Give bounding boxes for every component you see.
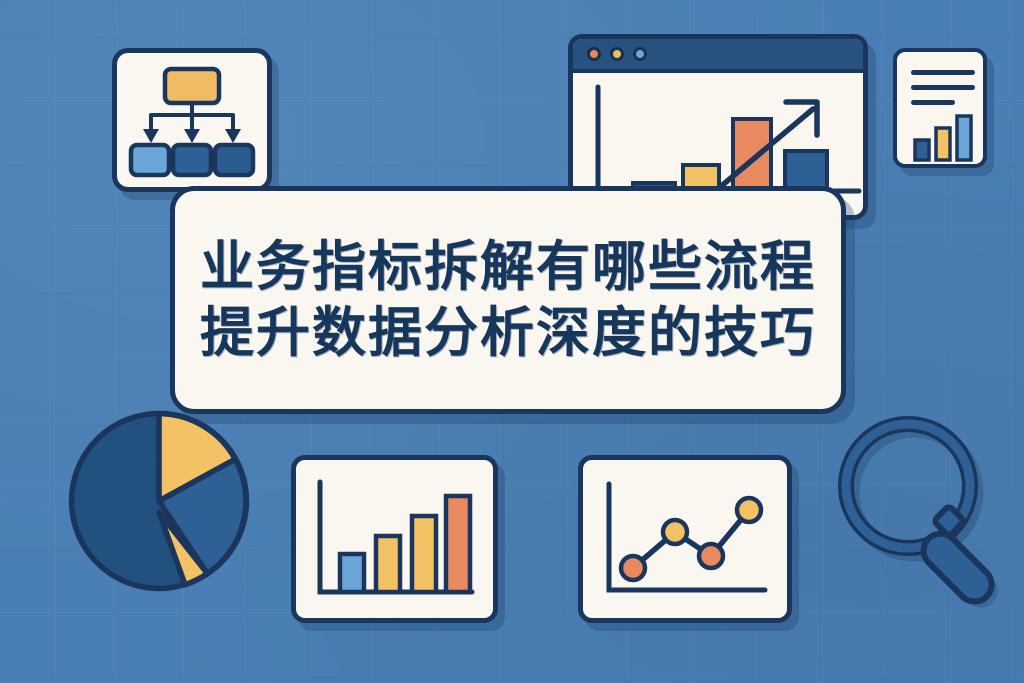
line-chart-point-2 — [663, 520, 687, 544]
flowchart-child-node-1 — [131, 145, 169, 175]
doc-text-line-1 — [911, 70, 975, 75]
doc-text-line-3 — [911, 100, 955, 105]
magnifier-icon — [826, 406, 1016, 628]
browser-title-bar — [573, 39, 863, 73]
line-chart-point-1 — [621, 556, 645, 580]
flowchart-arrowheads — [143, 129, 241, 143]
window-minimize-dot[interactable] — [610, 47, 624, 61]
poster-canvas: 业务指标拆解有哪些流程 提升数据分析深度的技巧 — [0, 0, 1024, 683]
flowchart-child-node-3 — [215, 145, 253, 175]
line-chart-point-4 — [737, 498, 761, 522]
window-close-dot[interactable] — [587, 47, 601, 61]
bar-chart-bar-1 — [340, 554, 364, 592]
flowchart-parent-node — [165, 69, 219, 103]
line-chart-graphic — [583, 460, 787, 618]
report-bar-1 — [915, 140, 929, 160]
bar-chart-graphic — [296, 460, 493, 618]
report-bar-2 — [936, 128, 950, 160]
bar-chart-bar-4 — [446, 496, 470, 592]
report-bar-chart-icon — [903, 110, 989, 162]
bar-4 — [785, 151, 827, 191]
title-line-1: 业务指标拆解有哪些流程 — [200, 237, 816, 297]
window-maximize-dot[interactable] — [633, 47, 647, 61]
line-chart-card — [578, 455, 792, 623]
bar-chart-card — [291, 455, 498, 623]
line-chart-polyline — [633, 510, 749, 568]
doc-text-line-2 — [911, 85, 975, 90]
bar-chart-bar-2 — [376, 536, 400, 592]
pie-chart-graphic — [66, 408, 252, 594]
flowchart-icon — [117, 53, 267, 187]
report-document-card — [893, 48, 987, 168]
title-banner: 业务指标拆解有哪些流程 提升数据分析深度的技巧 — [170, 186, 846, 414]
report-bar-3 — [957, 116, 971, 160]
bar-3 — [733, 119, 771, 191]
line-chart-point-3 — [699, 544, 723, 568]
bar-chart-bar-3 — [412, 516, 436, 592]
flowchart-child-node-2 — [173, 145, 211, 175]
title-line-2: 提升数据分析深度的技巧 — [200, 303, 816, 363]
flowchart-card — [112, 48, 272, 192]
